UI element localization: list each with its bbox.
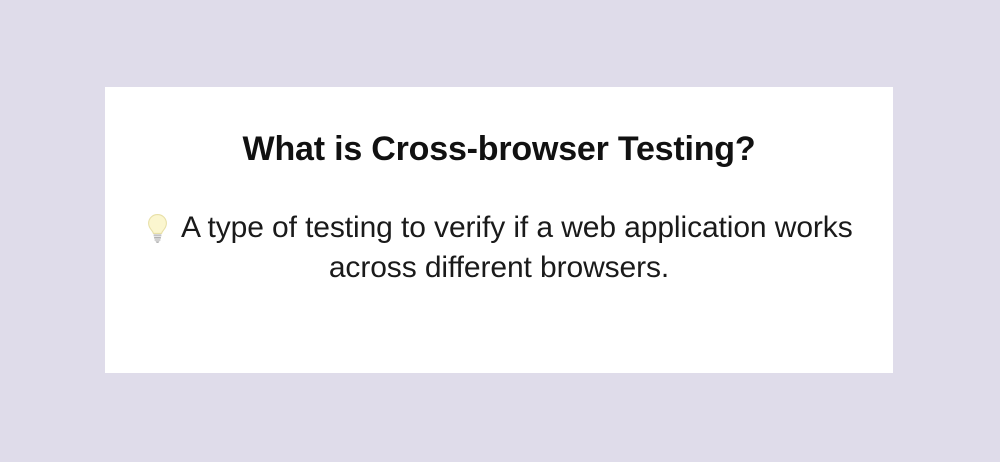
- card-title: What is Cross-browser Testing?: [105, 129, 893, 169]
- definition-sentence: A type of testing to verify if a web app…: [174, 211, 852, 284]
- slide-canvas: What is Cross-browser Testing? A type of…: [0, 0, 1000, 462]
- lightbulb-icon: [145, 213, 170, 243]
- card-definition-text: A type of testing to verify if a web app…: [131, 208, 867, 288]
- title-emphasis-text: Cross-browser Testing?: [371, 130, 755, 168]
- definition-card: What is Cross-browser Testing? A type of…: [105, 87, 893, 373]
- title-lead-text: What is: [243, 130, 372, 168]
